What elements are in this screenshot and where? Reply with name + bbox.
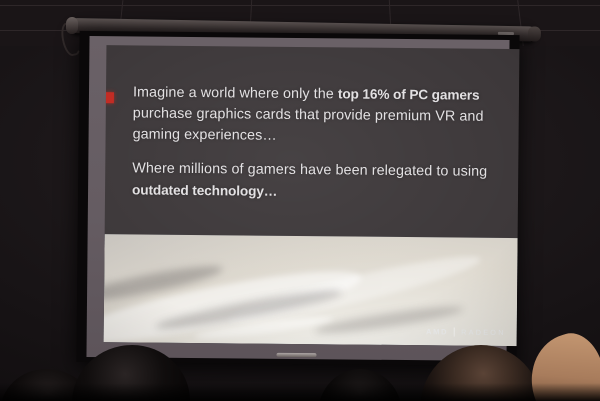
amd-radeon-logo: AMD RADEON (426, 327, 506, 337)
bottom-shadow (0, 383, 600, 401)
earth-from-orbit-image: AMD RADEON (104, 234, 518, 346)
slide-p2-run-2-bold: outdated technology… (132, 182, 277, 198)
slide-body-text: Imagine a world where only the top 16% o… (132, 81, 493, 204)
projected-slide: Imagine a world where only the top 16% o… (104, 45, 520, 346)
red-marker-tag (105, 92, 114, 103)
projector-screen: Imagine a world where only the top 16% o… (76, 31, 519, 366)
slide-p1-run-1: Imagine a world where only the (133, 84, 338, 102)
radeon-logo-text: RADEON (461, 328, 506, 337)
slide-paragraph-2: Where millions of gamers have been releg… (132, 158, 492, 204)
casing-end-cap-left (66, 17, 78, 34)
screen-weight-bar (276, 353, 316, 357)
screen-fabric: Imagine a world where only the top 16% o… (86, 36, 509, 361)
slide-p1-run-3: purchase graphics cards that provide pre… (133, 105, 484, 143)
logo-divider (454, 328, 455, 337)
slide-paragraph-1: Imagine a world where only the top 16% o… (133, 81, 494, 148)
slide-p2-run-1: Where millions of gamers have been releg… (132, 160, 487, 179)
amd-logo-text: AMD (426, 327, 448, 336)
conference-room-photo: Imagine a world where only the top 16% o… (0, 0, 600, 401)
casing-end-cap-right (528, 26, 541, 41)
slide-p1-run-2-bold: top 16% of PC gamers (338, 86, 480, 102)
